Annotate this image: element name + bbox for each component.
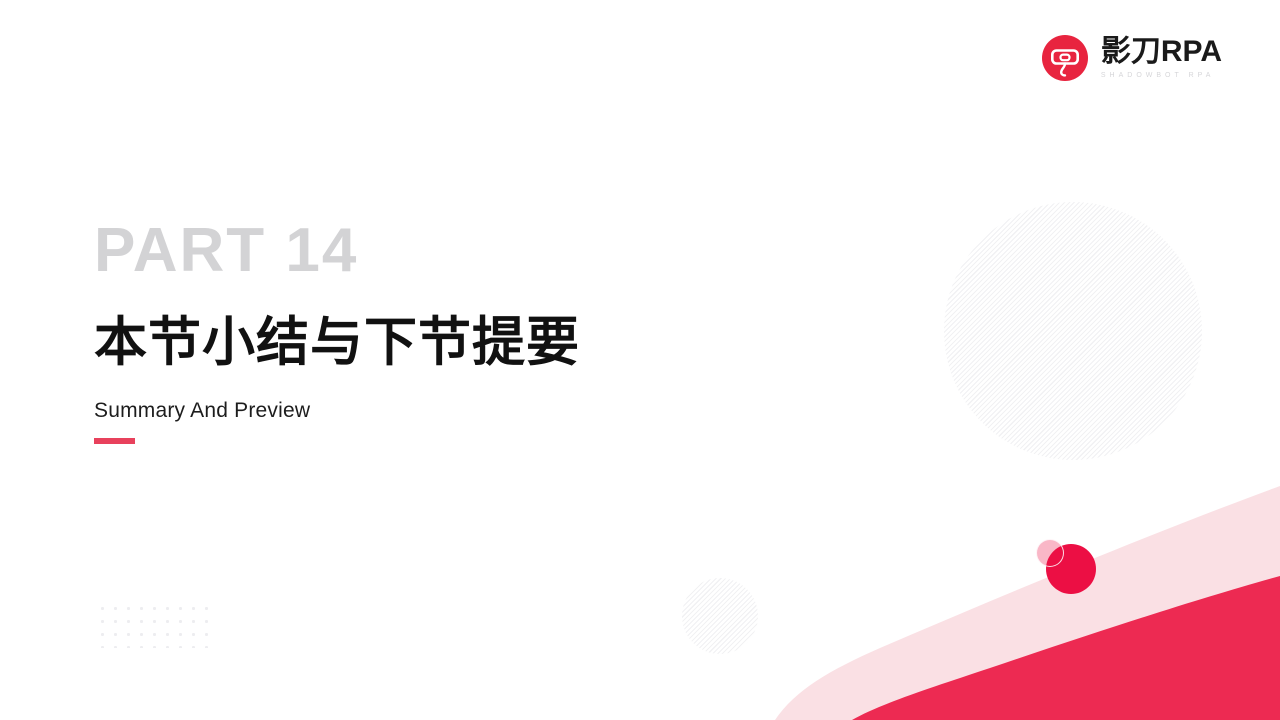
accent-underline-bar [94,438,135,444]
part-label: PART 14 [94,218,714,283]
slide-text-block: PART 14 本节小结与下节提要 Summary And Preview [94,218,714,444]
accent-circle-ghost-decoration [1036,539,1064,567]
logo-text-block: 影刀RPA SHADOWBOT RPA [1101,37,1222,79]
wave-light-shape [775,486,1280,720]
accent-circle-solid-decoration [1046,544,1096,594]
logo-tagline: SHADOWBOT RPA [1101,72,1222,79]
hatched-circle-large-decoration [944,202,1202,460]
hatched-circle-small-decoration [682,578,758,654]
logo-wordmark: 影刀RPA [1101,37,1222,67]
page-title: 本节小结与下节提要 [94,313,714,372]
slide-canvas: 影刀RPA SHADOWBOT RPA PART 14 本节小结与下节提要 Su… [0,0,1280,720]
wave-solid-shape [852,576,1280,720]
slide-subtitle: Summary And Preview [94,398,714,423]
dot-grid-decoration [96,602,214,648]
shadowbot-logo-mark-icon [1041,34,1089,82]
brand-logo: 影刀RPA SHADOWBOT RPA [1041,34,1222,82]
